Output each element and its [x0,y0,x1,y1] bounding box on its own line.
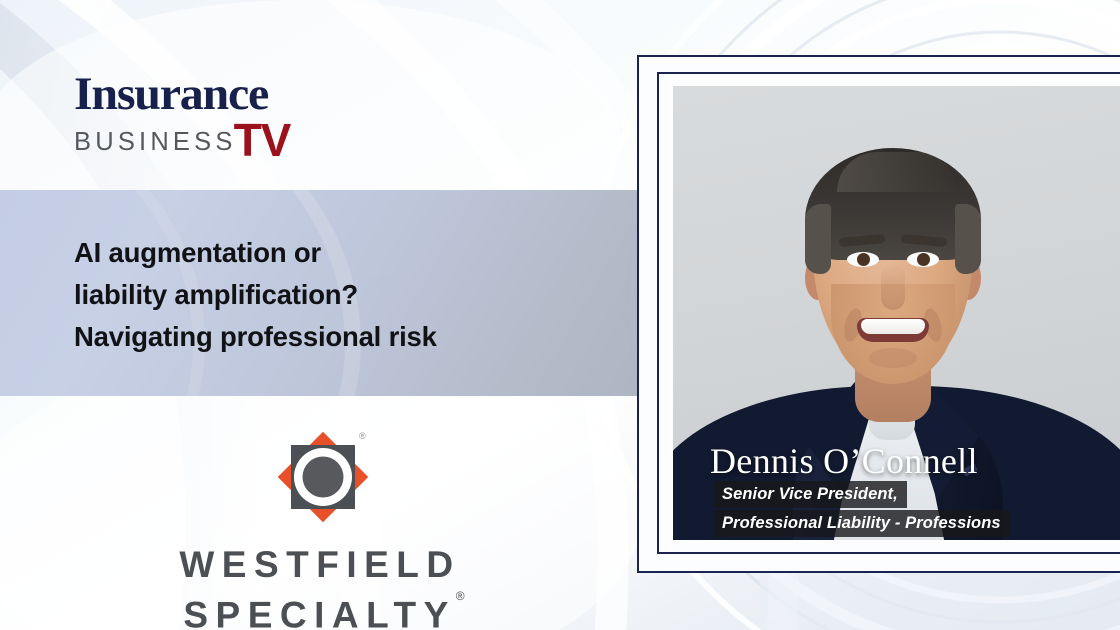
insurance-business-tv-logo[interactable]: Insurance BUSINESS TV [74,72,344,160]
photo-chin [869,348,917,368]
sponsor-wordmark-line-2: SPECIALTY® [175,587,464,630]
speaker-role: Senior Vice President, Professional Liab… [713,481,1010,537]
speaker-name: Dennis O’Connell [710,441,978,481]
sponsor-registered-symbol: ® [456,589,465,603]
logo-wordmark-tv: TV [234,122,291,160]
sponsor-logo-westfield-specialty[interactable]: ® WESTFIELD SPECIALTY® [0,425,640,630]
logo-wordmark-business: BUSINESS [74,130,237,160]
sponsor-wordmark-line-1: WESTFIELD [175,543,464,587]
photo-teeth [861,319,925,334]
sponsor-wordmark-line-2-text: SPECIALTY [183,594,455,630]
photo-hair-highlight [837,152,957,192]
left-panel: Insurance BUSINESS TV AI augmentation or… [0,0,640,630]
speaker-role-line-2: Professional Liability - Professions [713,510,1010,537]
sponsor-wordmark: WESTFIELD SPECIALTY® [175,543,464,630]
westfield-specialty-mark-icon: ® [271,425,375,529]
speaker-role-line-1: Senior Vice President, [713,481,907,508]
logo-subline: BUSINESS TV [74,118,344,160]
video-frame: Insurance BUSINESS TV AI augmentation or… [0,0,1120,630]
logo-wordmark-insurance: Insurance [74,72,349,117]
mark-registered-symbol: ® [359,431,366,441]
photo-iris-right [917,253,930,266]
photo-hair-temple-left [805,204,831,274]
photo-hair-temple-right [955,204,981,274]
page-title: AI augmentation or liability amplificati… [74,232,634,358]
photo-iris-left [857,253,870,266]
photo-nose [881,264,905,310]
